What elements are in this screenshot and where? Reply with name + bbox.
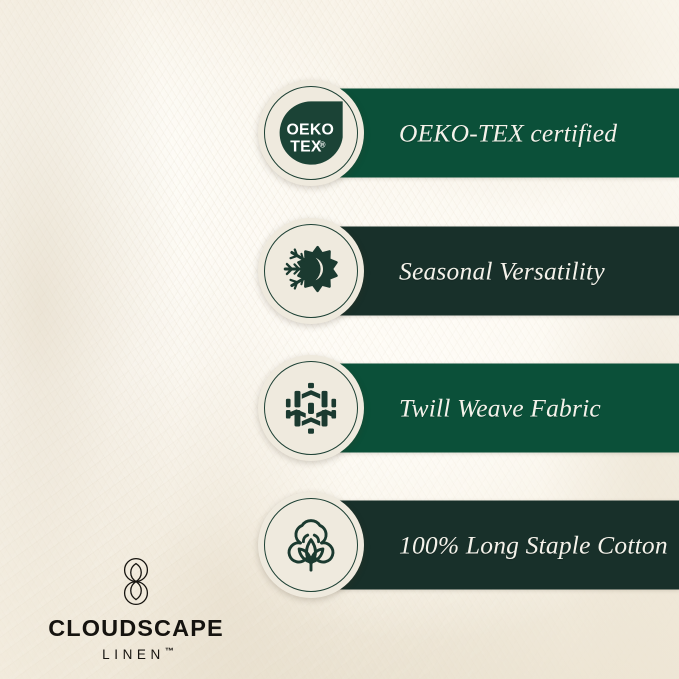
feature-label: 100% Long Staple Cotton [331, 530, 668, 560]
brand-subtitle: LINEN [98, 648, 165, 662]
snowflake-sun-icon [278, 238, 344, 304]
oeko-logo-line2: TEX [290, 139, 322, 156]
feature-badge [258, 355, 364, 461]
feature-row: OEKO-TEX certified OEKO TEX ® [0, 74, 679, 192]
feature-bar: 100% Long Staple Cotton [331, 501, 679, 590]
feature-label: Seasonal Versatility [331, 256, 605, 286]
feature-label: Twill Weave Fabric [331, 393, 601, 423]
feature-label: OEKO-TEX certified [331, 118, 617, 148]
brand-subtitle-wrap: LINEN ™ [38, 648, 234, 662]
twill-weave-icon [278, 375, 344, 441]
oeko-tex-logo-icon: OEKO TEX ® [275, 97, 347, 169]
oeko-logo-line1: OEKO [287, 121, 334, 138]
brand-name: CLOUDSCAPE [38, 617, 234, 641]
feature-badge [258, 218, 364, 324]
feature-badge [258, 492, 364, 598]
oeko-logo-registered-mark: ® [320, 140, 326, 149]
feature-bar: OEKO-TEX certified [331, 89, 679, 178]
cotton-boll-icon [278, 512, 344, 578]
feature-badge: OEKO TEX ® [258, 80, 364, 186]
feature-bar: Twill Weave Fabric [331, 364, 679, 453]
feature-bar: Seasonal Versatility [331, 227, 679, 316]
feature-row: Seasonal Versatility [0, 212, 679, 330]
brand-logo: CLOUDSCAPE LINEN ™ [38, 554, 234, 661]
trademark-symbol: ™ [165, 647, 174, 656]
feature-row: Twill Weave Fabric [0, 349, 679, 467]
cloudscape-infinity-petal-mark [116, 554, 156, 610]
